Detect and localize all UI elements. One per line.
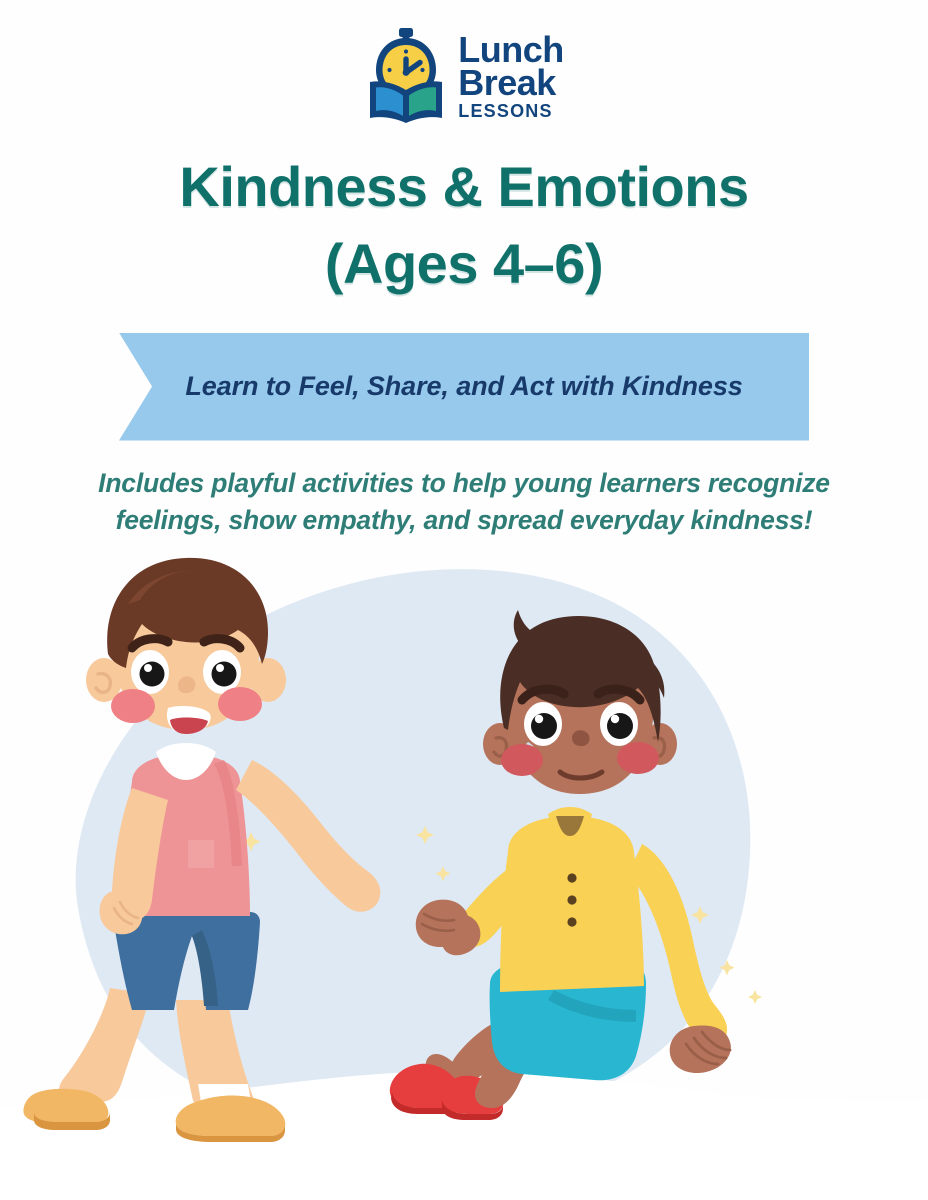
subtitle-line-1: Includes playful activities to help youn… [69,465,859,503]
brand-name-line-1: Lunch [458,33,563,66]
brand-name-line-3: LESSONS [458,103,563,120]
brand-name-line-2: Break [458,66,563,99]
stopwatch-over-open-book-icon [364,26,448,126]
cover-illustration [0,548,928,1200]
subtitle-paragraph: Includes playful activities to help youn… [69,465,859,540]
tagline-ribbon: Learn to Feel, Share, and Act with Kindn… [119,333,809,441]
page-title-line-2: (Ages 4–6) [0,225,928,302]
brand-logo: Lunch Break LESSONS [364,26,563,126]
page-title-line-1: Kindness & Emotions [0,148,928,225]
tagline-text: Learn to Feel, Share, and Act with Kindn… [185,371,742,402]
page-title: Kindness & Emotions (Ages 4–6) [0,148,928,303]
subtitle-line-2: feelings, show empathy, and spread every… [69,502,859,540]
brand-wordmark: Lunch Break LESSONS [458,33,563,120]
cover-page: Lunch Break LESSONS Kindness & Emotions … [0,0,928,1200]
